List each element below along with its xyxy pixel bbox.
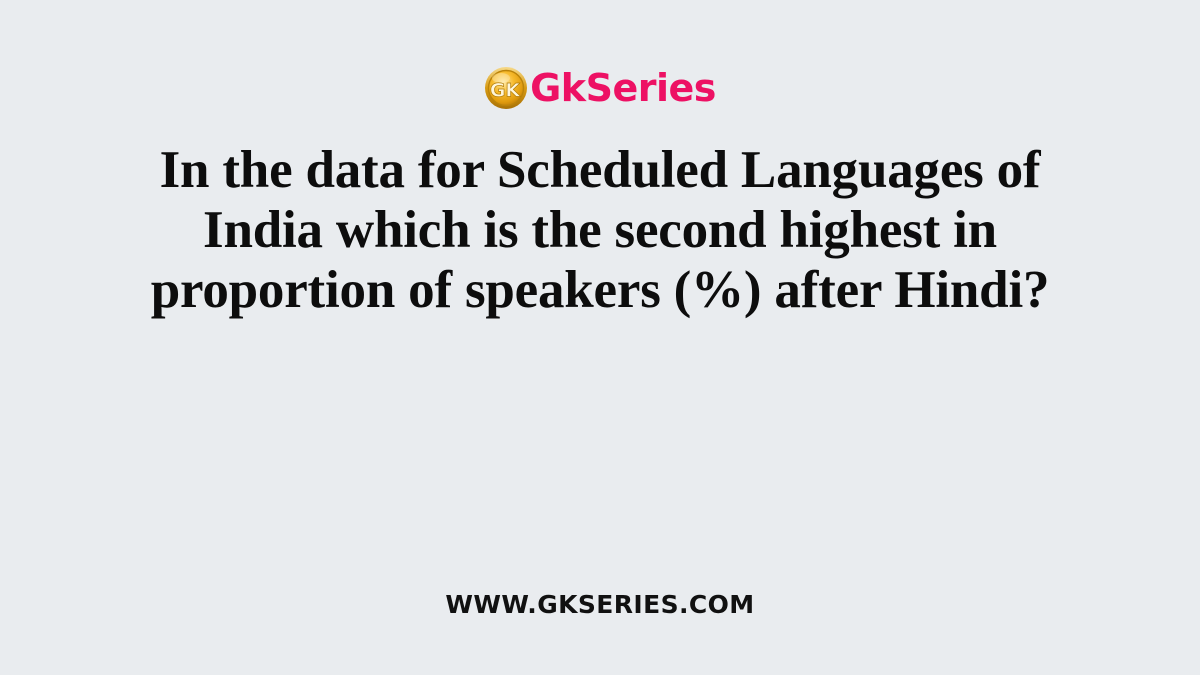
footer-website-url[interactable]: WWW.GKSERIES.COM — [445, 590, 754, 619]
brand-name: GkSeries — [530, 69, 716, 107]
question-card: GK GkSeries In the data for Scheduled La… — [0, 0, 1200, 675]
footer: WWW.GKSERIES.COM — [0, 592, 1200, 618]
question-line-3: proportion of speakers (%) after Hindi? — [40, 260, 1160, 320]
question-line-1: In the data for Scheduled Languages of — [40, 140, 1160, 200]
question-text: In the data for Scheduled Languages of I… — [40, 140, 1160, 320]
gkseries-coin-logo-icon: GK — [484, 66, 528, 110]
question-line-2: India which is the second highest in — [40, 200, 1160, 260]
answer-area — [0, 340, 1200, 580]
brand-header[interactable]: GK GkSeries — [0, 62, 1200, 114]
svg-text:GK: GK — [490, 80, 522, 102]
